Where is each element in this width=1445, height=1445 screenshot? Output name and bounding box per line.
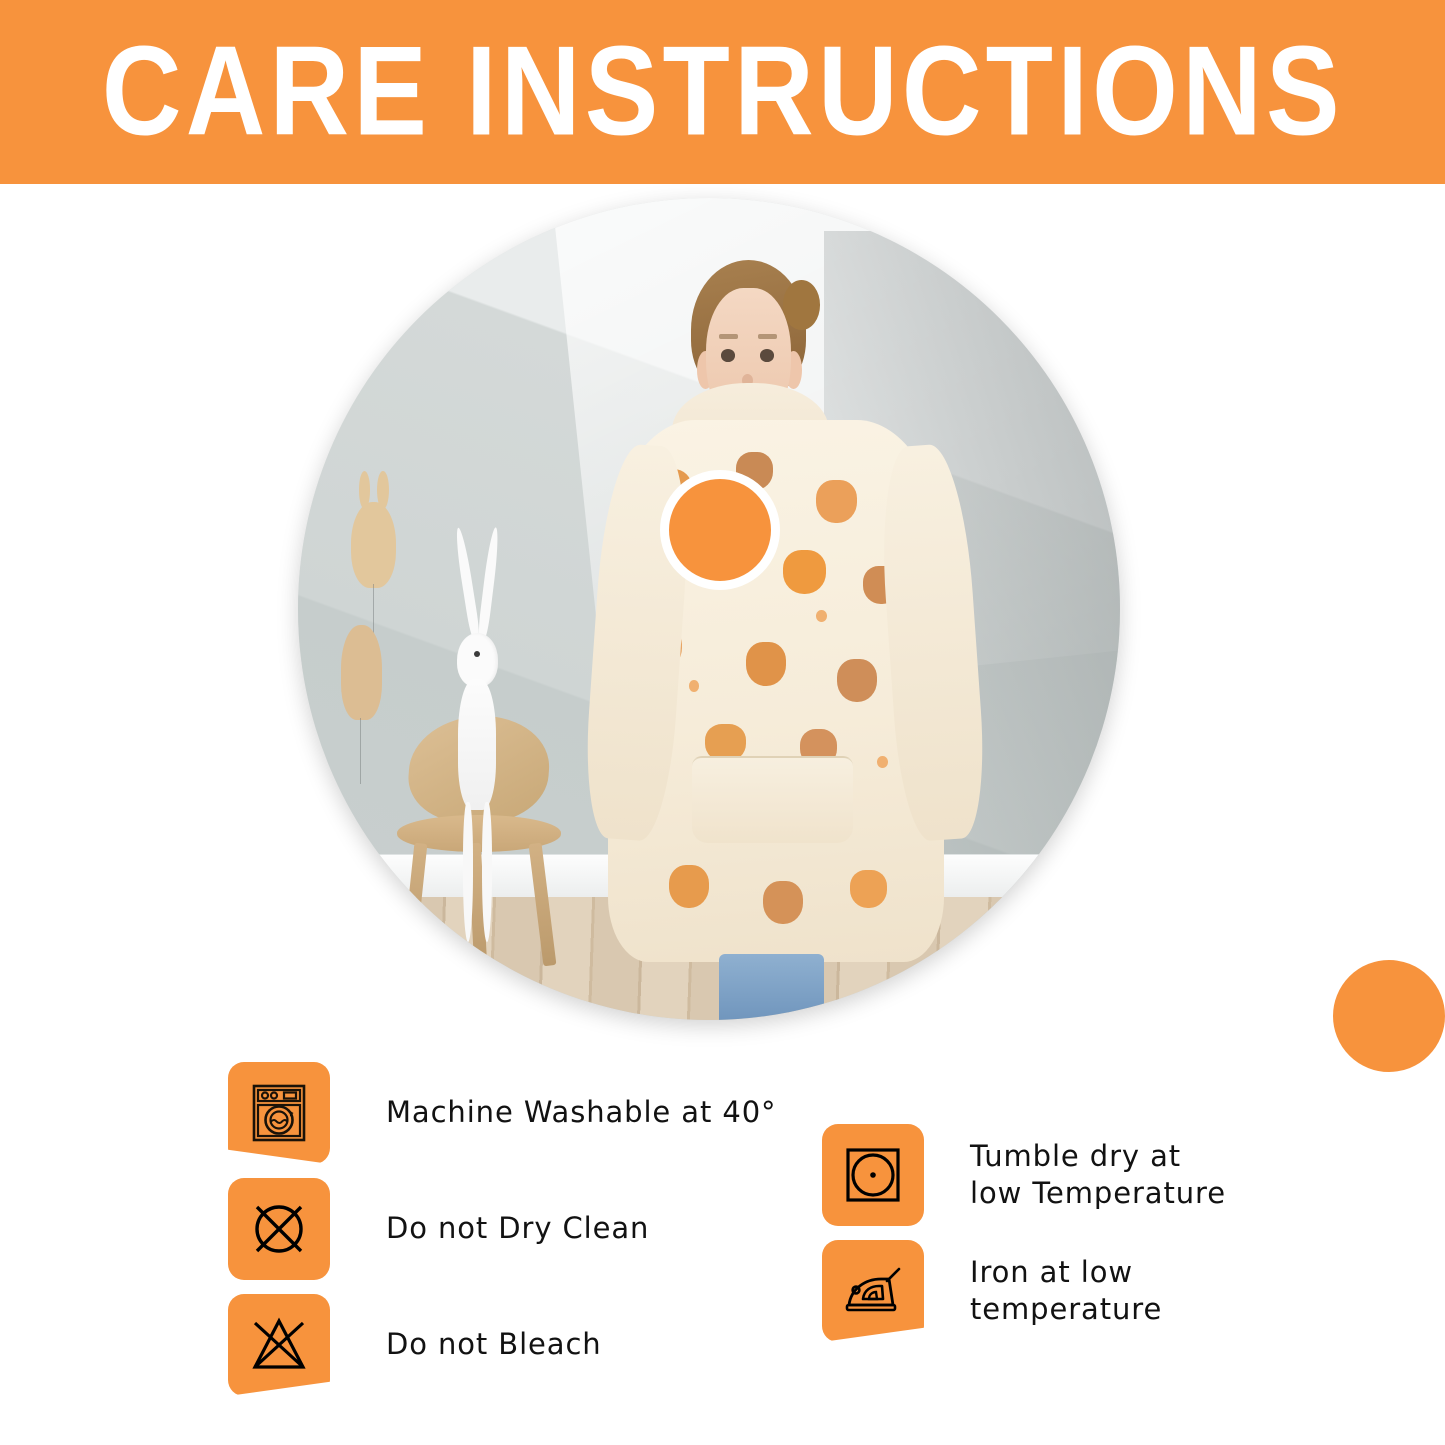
care-badge: [228, 1062, 330, 1164]
care-label: Do not Dry Clean: [386, 1210, 649, 1247]
care-badge: [228, 1294, 330, 1396]
hook-string: [373, 584, 374, 633]
page-title: CARE INSTRUCTIONS: [102, 29, 1344, 156]
product-photo: [298, 198, 1120, 1020]
hook-string: [360, 718, 361, 784]
hoodie-pocket: [692, 756, 853, 843]
header-bar: CARE INSTRUCTIONS: [0, 0, 1445, 184]
care-badge: [822, 1240, 924, 1342]
care-row-tumble-dry: Tumble dry at low Temperature: [822, 1124, 1226, 1226]
cat-wall-hook-icon: [341, 625, 382, 720]
care-instructions-list: Machine Washable at 40° Do not Dry Clean: [0, 1062, 1445, 1445]
no-dry-clean-icon: [247, 1197, 311, 1261]
care-label: Machine Washable at 40°: [386, 1094, 776, 1131]
bunny-wall-hook-icon: [351, 502, 395, 588]
care-badge: [228, 1178, 330, 1280]
care-row-machine-wash: Machine Washable at 40°: [228, 1062, 776, 1164]
care-column-left: Machine Washable at 40° Do not Dry Clean: [228, 1062, 776, 1396]
washing-machine-icon: [248, 1082, 310, 1144]
no-bleach-icon: [247, 1315, 311, 1375]
child-jeans: [719, 954, 825, 1020]
child-hair-tuft: [783, 280, 820, 329]
care-row-iron-low: Iron at low temperature: [822, 1240, 1226, 1342]
room-scene: [298, 198, 1120, 1020]
child-eyebrow: [719, 334, 738, 339]
care-label: Do not Bleach: [386, 1326, 602, 1363]
hero-image-block: [298, 198, 1120, 1020]
child-eyebrow: [758, 334, 777, 339]
iron-low-icon: [839, 1263, 907, 1319]
child-model: [553, 198, 1013, 1020]
care-column-right: Tumble dry at low Temperature Iron at lo…: [822, 1124, 1226, 1342]
care-label: Tumble dry at low Temperature: [970, 1138, 1226, 1212]
rabbit-figurine-eye: [474, 651, 480, 657]
child-eye: [721, 349, 735, 361]
care-row-no-dry-clean: Do not Dry Clean: [228, 1178, 776, 1280]
care-label: Iron at low temperature: [970, 1254, 1162, 1328]
care-badge: [822, 1124, 924, 1226]
tumble-dry-low-icon: [842, 1144, 904, 1206]
care-row-no-bleach: Do not Bleach: [228, 1294, 776, 1396]
child-eye: [760, 349, 774, 361]
rabbit-figurine-body: [458, 679, 496, 811]
care-instructions-page: CARE INSTRUCTIONS: [0, 0, 1445, 1445]
accent-circle-top-left: [660, 470, 780, 590]
